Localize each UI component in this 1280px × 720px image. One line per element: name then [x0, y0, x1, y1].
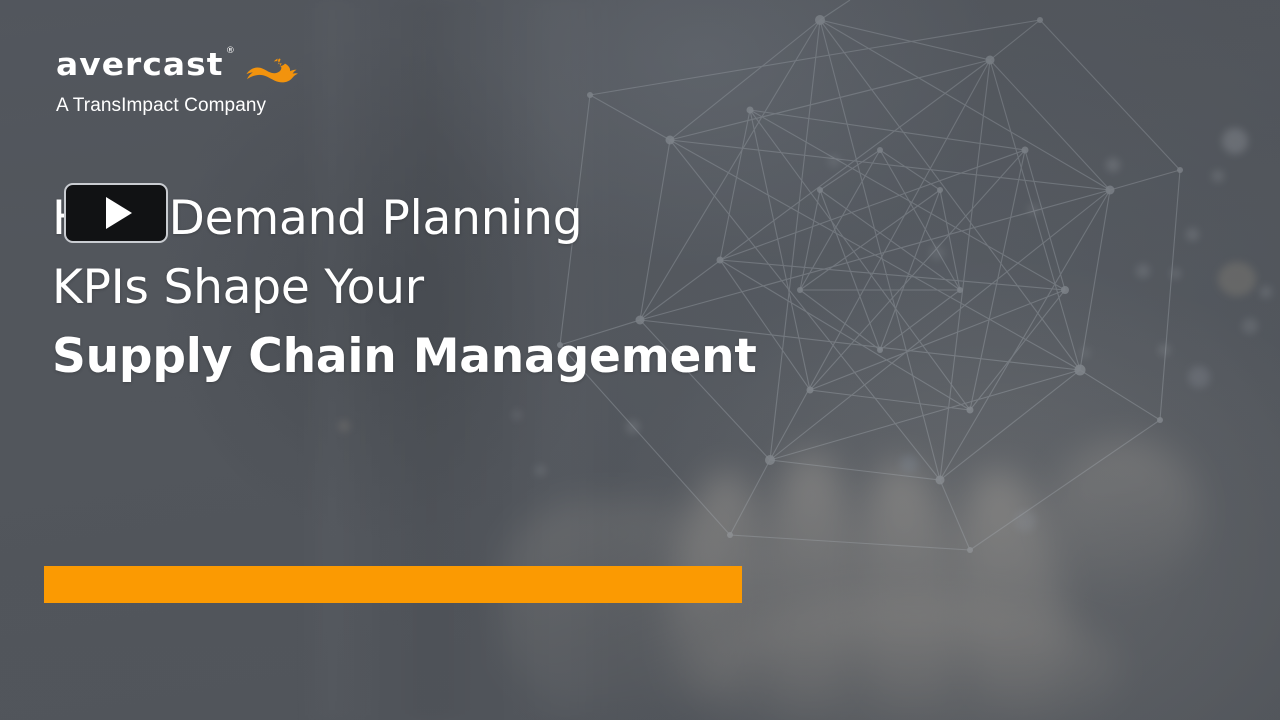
play-button[interactable] [64, 183, 168, 243]
title-line-2: KPIs Shape Your [52, 253, 842, 322]
title-line-3: Supply Chain Management [52, 322, 842, 391]
gazelle-icon [244, 58, 300, 86]
avercast-wordmark-text: avercast [56, 47, 223, 83]
logo-tagline: A TransImpact Company [56, 95, 346, 117]
video-thumbnail-slide: avercast® A TransImpact Company How Dema… [0, 0, 1280, 720]
page-title: How Demand Planning KPIs Shape Your Supp… [52, 184, 842, 391]
title-line-1: How Demand Planning [52, 184, 842, 253]
registered-trademark-icon: ® [226, 47, 235, 56]
avercast-logo[interactable]: avercast® A TransImpact Company [56, 50, 346, 117]
play-triangle-icon [106, 197, 132, 229]
accent-bar [44, 566, 742, 603]
avercast-wordmark: avercast® [56, 50, 223, 81]
